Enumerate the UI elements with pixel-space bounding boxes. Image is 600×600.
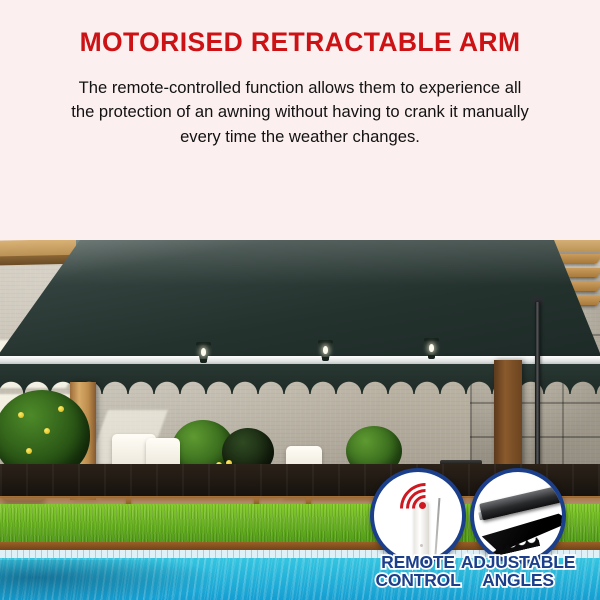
signal-wave-icon xyxy=(389,472,461,544)
description-text: The remote-controlled function allows th… xyxy=(32,76,568,149)
lemon-fruit xyxy=(44,428,50,434)
awning-support-pole xyxy=(535,302,540,477)
badge-label-line-2: ANGLES xyxy=(448,572,588,590)
lantern-bulb xyxy=(201,348,206,356)
lantern-foot xyxy=(428,355,435,359)
wall-lantern xyxy=(196,342,211,364)
lemon-fruit xyxy=(58,406,64,412)
lemon-fruit xyxy=(18,412,24,418)
badge-circle xyxy=(470,468,566,564)
description-line-2: the protection of an awning without havi… xyxy=(32,100,568,124)
badge-circle xyxy=(370,468,466,564)
badge-label-adjustable-angles: ADJUSTABLE ANGLES xyxy=(448,554,588,590)
awning-canopy-sheen xyxy=(0,240,600,360)
awning-angle-bar-icon xyxy=(479,485,566,521)
feature-badge-adjustable-angles[interactable]: ADJUSTABLE ANGLES xyxy=(470,468,566,564)
wall-lantern xyxy=(318,340,333,362)
pool-shadow xyxy=(0,560,220,600)
wood-post-right xyxy=(494,360,522,480)
lantern-foot xyxy=(322,357,329,361)
lantern-bulb xyxy=(323,346,328,354)
feature-badge-remote-control[interactable]: REMOTE CONTROL xyxy=(370,468,466,564)
lantern-foot xyxy=(200,359,207,363)
description-line-1: The remote-controlled function allows th… xyxy=(32,76,568,100)
lantern-bulb xyxy=(429,344,434,352)
remote-button-dot xyxy=(420,544,423,547)
header-section: MOTORISED RETRACTABLE ARM The remote-con… xyxy=(0,0,600,240)
wall-lantern xyxy=(424,338,439,360)
lemon-fruit xyxy=(26,448,32,454)
description-line-3: every time the weather changes. xyxy=(32,125,568,149)
product-feature-banner: MOTORISED RETRACTABLE ARM The remote-con… xyxy=(0,0,600,600)
page-title: MOTORISED RETRACTABLE ARM xyxy=(0,28,600,57)
